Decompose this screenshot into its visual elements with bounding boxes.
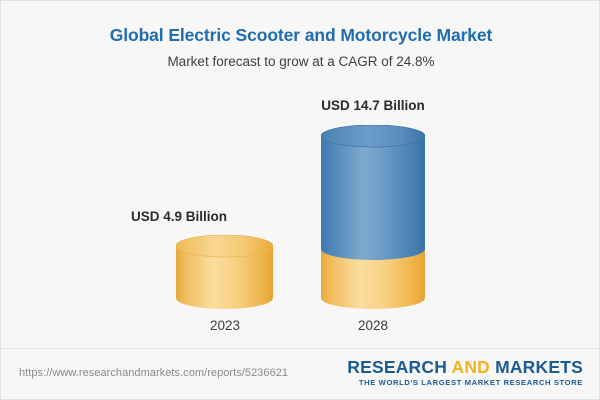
logo-tagline: THE WORLD'S LARGEST MARKET RESEARCH STOR…	[347, 378, 583, 388]
chart-canvas: Global Electric Scooter and Motorcycle M…	[0, 0, 600, 400]
cylinder-2023-icon	[176, 235, 273, 309]
bar-2028[interactable]	[321, 125, 425, 309]
logo-word-research: RESEARCH	[347, 357, 451, 377]
cylinder-2028-icon	[321, 125, 425, 309]
value-label-2023: USD 4.9 Billion	[69, 209, 289, 224]
plot-area: USD 4.9 Billion	[1, 1, 600, 349]
logo-word-markets: MARKETS	[495, 357, 583, 377]
bar-2023[interactable]	[176, 235, 273, 309]
research-and-markets-logo[interactable]: RESEARCH AND MARKETS THE WORLD'S LARGEST…	[347, 358, 583, 388]
value-label-2028: USD 14.7 Billion	[263, 98, 483, 113]
footer-divider	[2, 348, 600, 349]
report-url[interactable]: https://www.researchandmarkets.com/repor…	[19, 367, 288, 379]
logo-word-and: AND	[451, 357, 495, 377]
logo-wordmark: RESEARCH AND MARKETS	[347, 358, 583, 377]
category-label-2028: 2028	[273, 318, 473, 333]
